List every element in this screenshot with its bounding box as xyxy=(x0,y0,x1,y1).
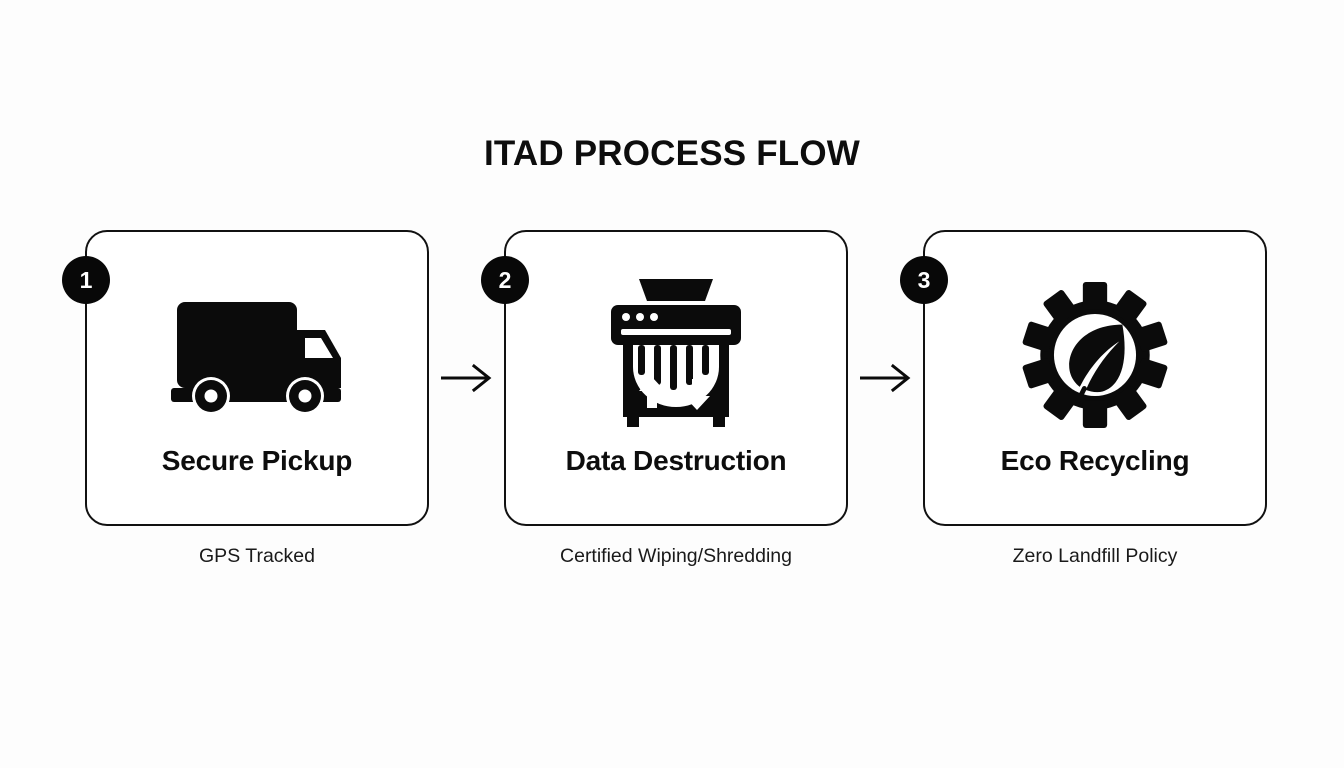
gear-leaf-icon xyxy=(1019,280,1171,430)
step-card-data-destruction[interactable]: 2 xyxy=(504,230,848,526)
step-number-badge-2: 2 xyxy=(481,256,529,304)
step-number-badge-3: 3 xyxy=(900,256,948,304)
step-card-eco-recycling[interactable]: 3 xyxy=(923,230,1267,526)
step-label-3: Eco Recycling xyxy=(1001,444,1190,478)
step-caption-2: Certified Wiping/Shredding xyxy=(504,543,848,569)
paper-shredder-icon xyxy=(605,280,747,430)
step-caption-1: GPS Tracked xyxy=(85,543,429,569)
process-step-2: 2 xyxy=(504,230,848,569)
process-step-3: 3 xyxy=(923,230,1267,569)
step-label-1: Secure Pickup xyxy=(162,444,352,478)
page-title: ITAD PROCESS FLOW xyxy=(0,132,1344,176)
process-steps-row: 1 xyxy=(85,230,1267,580)
step-label-2: Data Destruction xyxy=(566,444,787,478)
delivery-truck-icon xyxy=(169,280,345,430)
process-step-1: 1 xyxy=(85,230,429,569)
step-caption-3: Zero Landfill Policy xyxy=(923,543,1267,569)
step-card-secure-pickup[interactable]: 1 xyxy=(85,230,429,526)
step-number-badge-1: 1 xyxy=(62,256,110,304)
itad-process-flow-infographic: ITAD PROCESS FLOW 1 xyxy=(0,0,1344,768)
